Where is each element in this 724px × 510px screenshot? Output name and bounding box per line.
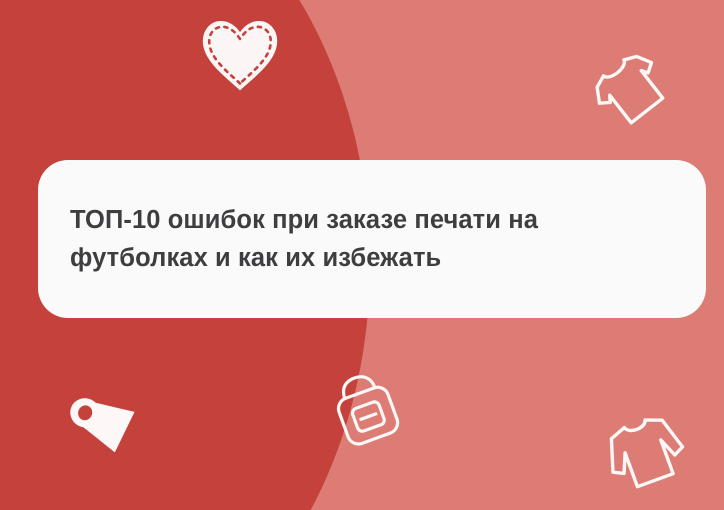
- promo-banner: ТОП-10 ошибок при заказе печати на футбо…: [0, 0, 724, 510]
- page-title: ТОП-10 ошибок при заказе печати на футбо…: [70, 201, 590, 277]
- title-card: ТОП-10 ошибок при заказе печати на футбо…: [38, 160, 706, 318]
